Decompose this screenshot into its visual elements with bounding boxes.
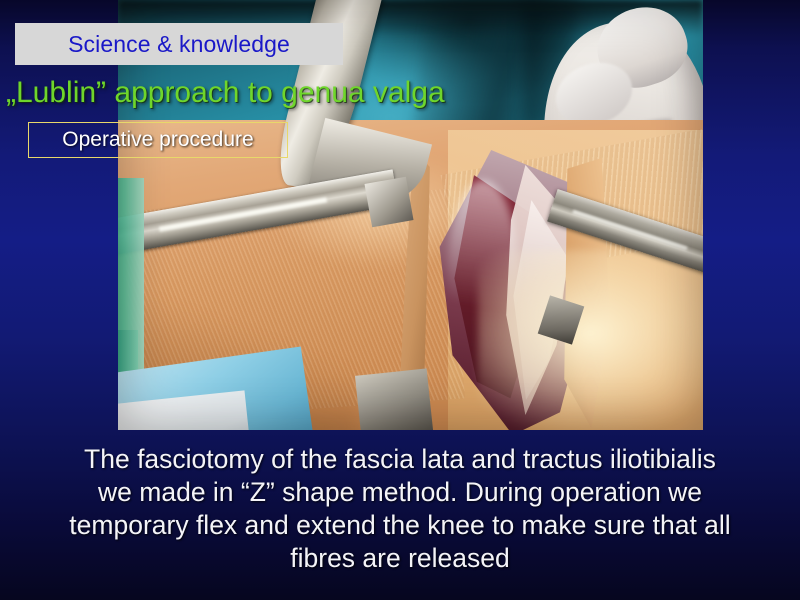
caption-line-3: temporary flex and extend the knee to ma… bbox=[14, 509, 786, 542]
operative-procedure-label: Operative procedure bbox=[62, 128, 253, 152]
science-knowledge-label: Science & knowledge bbox=[68, 31, 290, 58]
presentation-slide: Science & knowledge „Lublin” approach to… bbox=[0, 0, 800, 600]
operative-procedure-box: Operative procedure bbox=[28, 122, 288, 158]
caption-line-1: The fasciotomy of the fascia lata and tr… bbox=[14, 443, 786, 476]
page-title: „Lublin” approach to genua valga bbox=[6, 76, 546, 110]
caption-line-4: fibres are released bbox=[14, 542, 786, 575]
science-knowledge-banner: Science & knowledge bbox=[15, 23, 343, 65]
caption-line-2: we made in “Z” shape method. During oper… bbox=[14, 476, 786, 509]
slide-caption: The fasciotomy of the fascia lata and tr… bbox=[14, 443, 786, 575]
